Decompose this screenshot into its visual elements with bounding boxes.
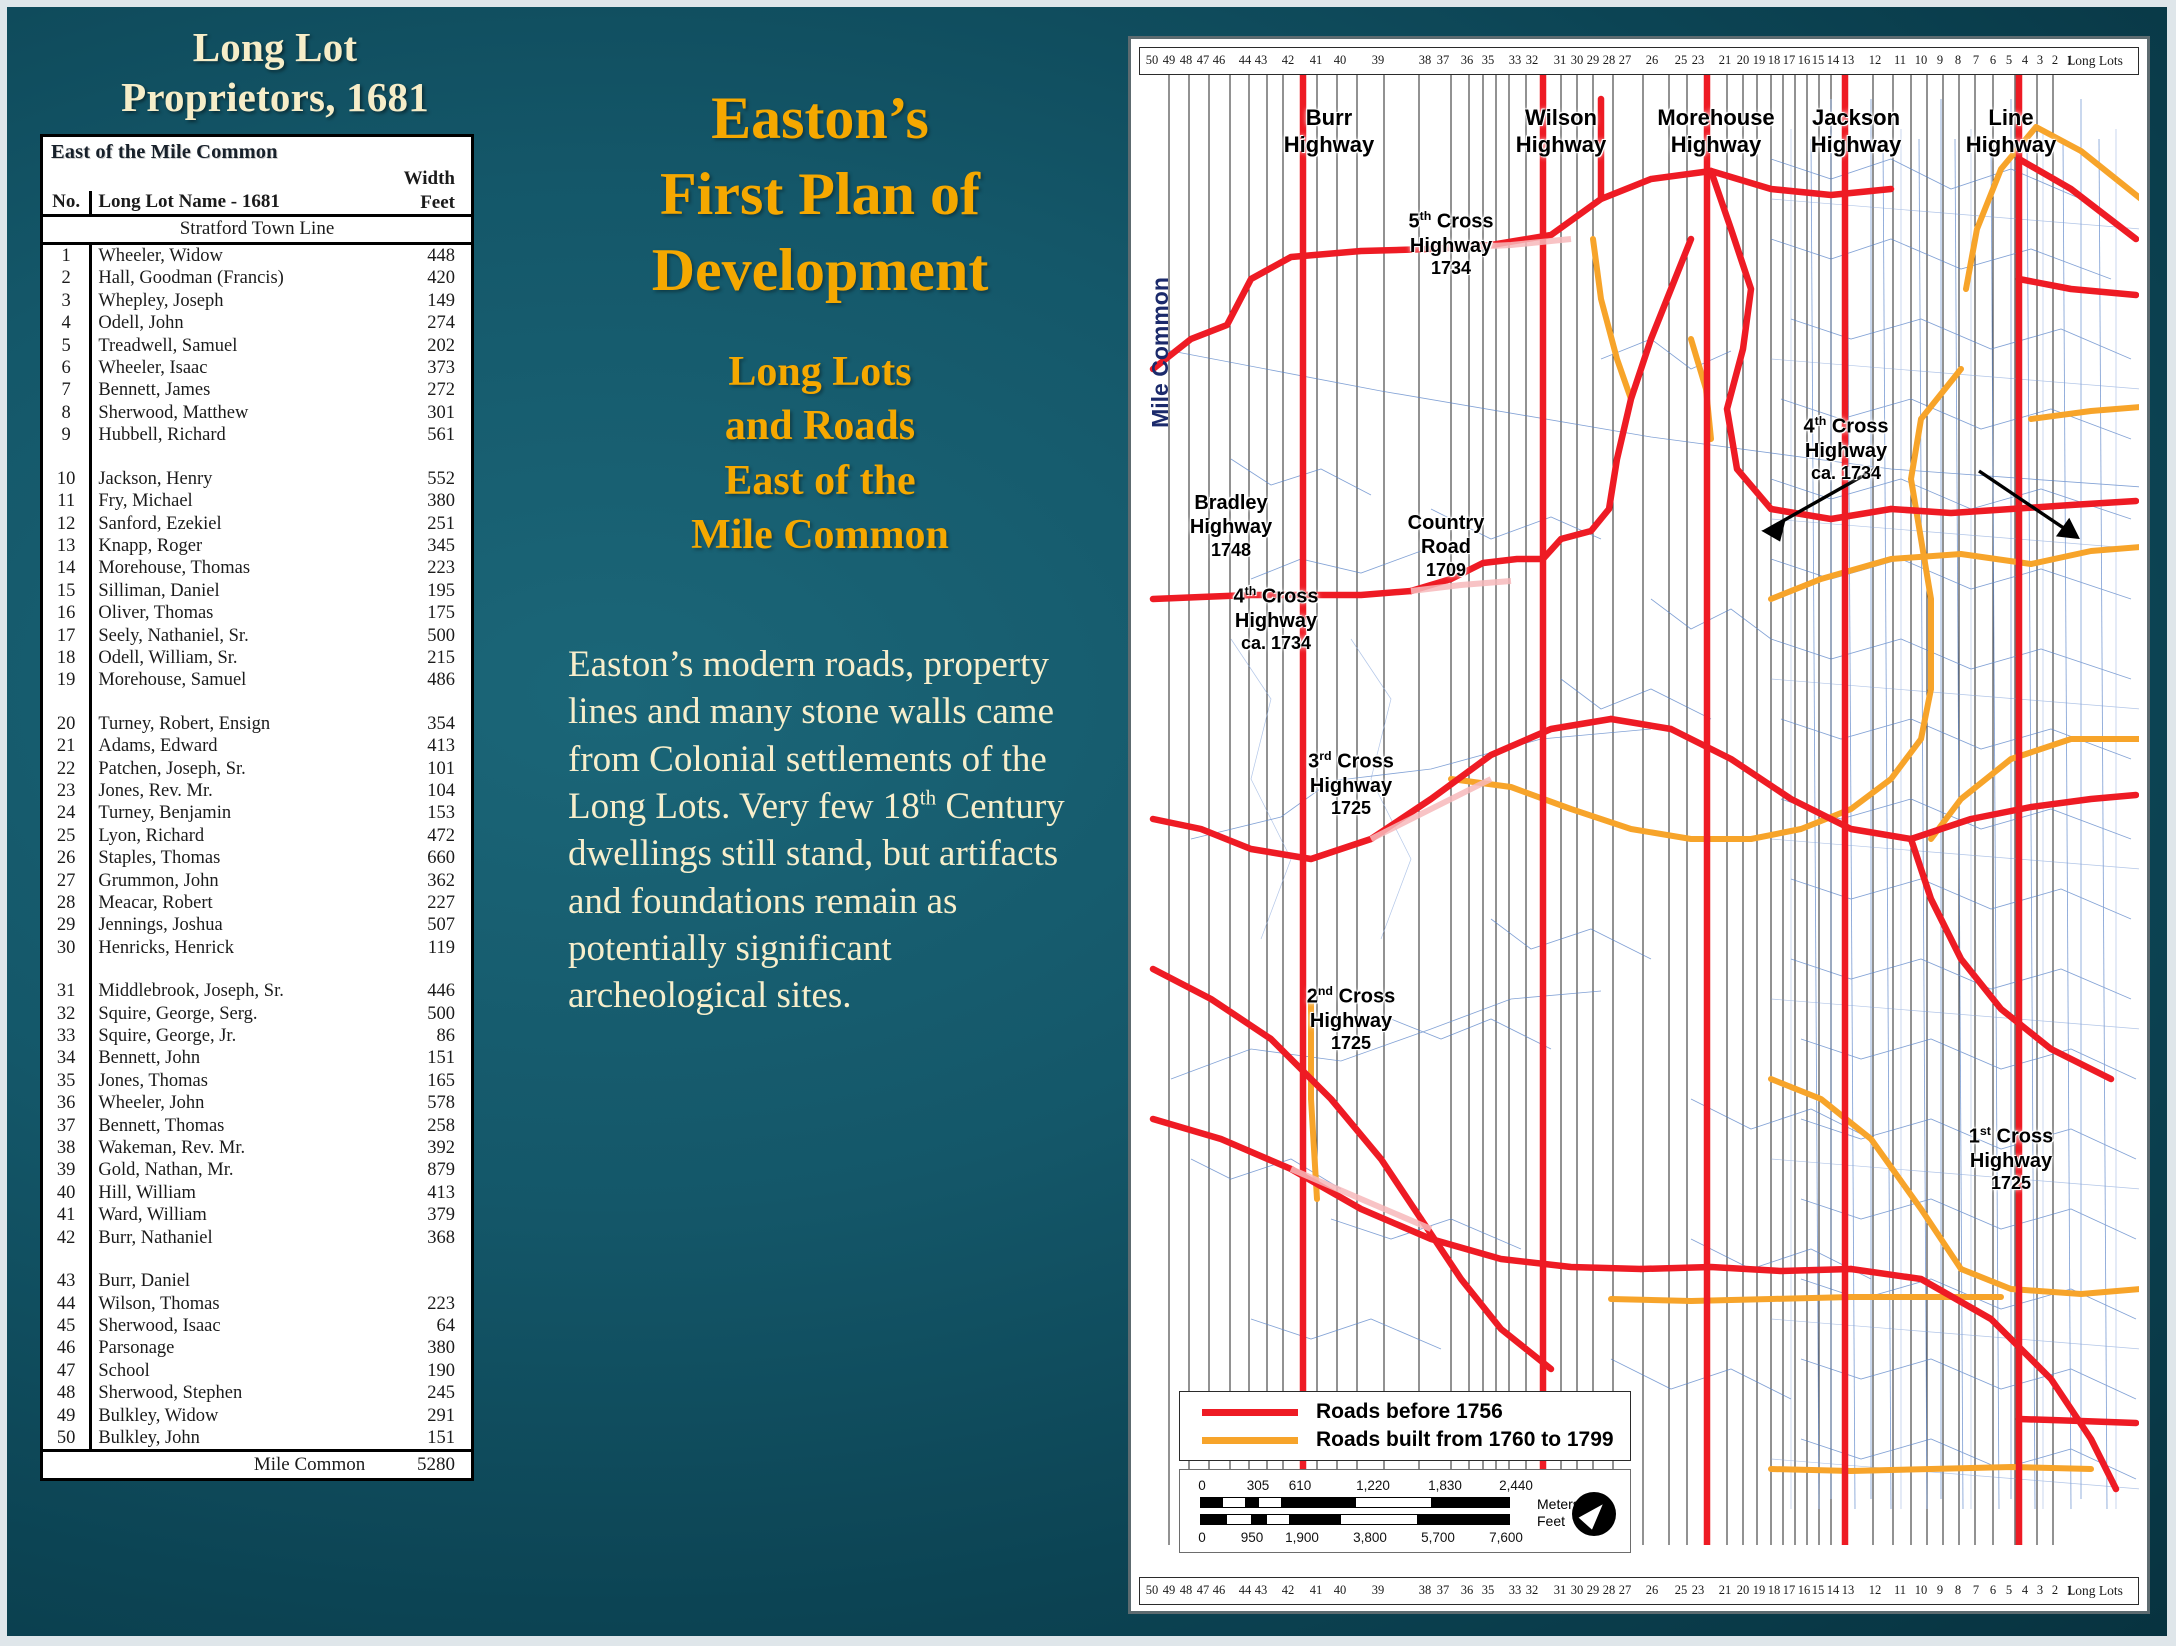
cell-lot-name: Jennings, Joshua — [91, 914, 375, 936]
cell-lot-no: 3 — [43, 290, 91, 312]
map-canvas[interactable]: 5049484746444342414039383736353332313029… — [1131, 39, 2147, 1611]
cell-lot-width: 223 — [375, 1293, 471, 1315]
cell-lot-name: Silliman, Daniel — [91, 580, 375, 602]
cell-lot-no: 17 — [43, 625, 91, 647]
cell-lot-no: 21 — [43, 735, 91, 757]
cell-lot-no: 43 — [43, 1270, 91, 1292]
cell-lot-no: 5 — [43, 335, 91, 357]
cell-lot-name: Burr, Nathaniel — [91, 1227, 375, 1249]
cell-lot-width: 175 — [375, 602, 471, 624]
table-row: 43Burr, Daniel — [43, 1270, 471, 1292]
cell-lot-no: 9 — [43, 424, 91, 446]
lot-number-tick: 30 — [1571, 53, 1584, 68]
cell-lot-width: 223 — [375, 557, 471, 579]
cell-lot-name: Fry, Michael — [91, 490, 375, 512]
page-subtitle-line-2: and Roads — [540, 399, 1100, 454]
cell-lot-name: Staples, Thomas — [91, 847, 375, 869]
cell-lot-width: 379 — [375, 1204, 471, 1226]
table-row-spacer — [43, 1249, 471, 1270]
cell-lot-width: 413 — [375, 735, 471, 757]
lot-number-tick: 26 — [1646, 1583, 1659, 1598]
page-subtitle-line-4: Mile Common — [540, 508, 1100, 563]
table-row: 10Jackson, Henry552 — [43, 468, 471, 490]
cell-lot-name: Treadwell, Samuel — [91, 335, 375, 357]
col-header-width-top: Width — [375, 167, 471, 191]
table-row: 39Gold, Nathan, Mr.879 — [43, 1159, 471, 1181]
cell-lot-name: Turney, Benjamin — [91, 802, 375, 824]
table-row: 44Wilson, Thomas223 — [43, 1293, 471, 1315]
lot-number-tick: 16 — [1798, 53, 1811, 68]
lot-number-tick: 40 — [1334, 53, 1347, 68]
table-row: 41Ward, William379 — [43, 1204, 471, 1226]
lot-number-tick: 23 — [1692, 1583, 1705, 1598]
lot-number-tick: 31 — [1554, 53, 1567, 68]
table-row: 35Jones, Thomas165 — [43, 1070, 471, 1092]
table-row: 8Sherwood, Matthew301 — [43, 402, 471, 424]
lot-number-strip-bottom: 5049484746444342414039383736353332313029… — [1139, 1577, 2139, 1605]
cell-lot-name: Bulkley, Widow — [91, 1405, 375, 1427]
lot-number-tick: 40 — [1334, 1583, 1347, 1598]
table-row: 36Wheeler, John578 — [43, 1092, 471, 1114]
cell-lot-width: 274 — [375, 312, 471, 334]
lot-number-tick: 43 — [1255, 53, 1268, 68]
cell-lot-no: 28 — [43, 892, 91, 914]
lot-number-tick: 36 — [1461, 53, 1474, 68]
lot-number-tick: 27 — [1619, 1583, 1632, 1598]
label-bradley-highway: Bradley Highway 1748 — [1141, 491, 1321, 562]
cell-lot-width: 165 — [375, 1070, 471, 1092]
table-row: 12Sanford, Ezekiel251 — [43, 513, 471, 535]
cell-lot-no: 32 — [43, 1003, 91, 1025]
scale-bar-feet: Feet — [1200, 1514, 1510, 1525]
table-caption: East of the Mile Common — [43, 137, 471, 167]
label-2nd-cross-highway: 2nd Cross Highway 1725 — [1261, 984, 1441, 1055]
table-row-spacer — [43, 959, 471, 980]
map-scale-bar: 0 305 610 1,220 1,830 2,440 Meters Feet — [1179, 1469, 1631, 1553]
table-row: 46Parsonage380 — [43, 1337, 471, 1359]
page-title-line-3: Development — [540, 232, 1100, 308]
cell-lot-width: 245 — [375, 1382, 471, 1404]
cell-lot-no: 22 — [43, 758, 91, 780]
scale-meters-tick-1: 305 — [1247, 1478, 1270, 1493]
lot-number-tick: 21 — [1719, 1583, 1732, 1598]
cell-lot-name: Adams, Edward — [91, 735, 375, 757]
cell-lot-width: 373 — [375, 357, 471, 379]
body-paragraph-ordinal: th — [920, 786, 936, 810]
total-value: 5280 — [375, 1451, 471, 1479]
table-row: 17Seely, Nathaniel, Sr.500 — [43, 625, 471, 647]
lot-number-tick: 50 — [1146, 1583, 1159, 1598]
cell-lot-no: 8 — [43, 402, 91, 424]
table-row: 3Whepley, Joseph149 — [43, 290, 471, 312]
cell-lot-no: 46 — [43, 1337, 91, 1359]
cell-lot-name: Bulkley, John — [91, 1427, 375, 1451]
lot-number-tick: 4 — [2022, 1583, 2028, 1598]
lot-number-tick: 29 — [1587, 53, 1600, 68]
cell-lot-name: Middlebrook, Joseph, Sr. — [91, 980, 375, 1002]
table-row: 22Patchen, Joseph, Sr.101 — [43, 758, 471, 780]
cell-lot-name: Sherwood, Matthew — [91, 402, 375, 424]
lot-number-tick: 38 — [1419, 1583, 1432, 1598]
cell-lot-name: Morehouse, Thomas — [91, 557, 375, 579]
cell-lot-name: Meacar, Robert — [91, 892, 375, 914]
label-wilson-highway: Wilson Highway — [1481, 105, 1641, 159]
legend-item-roads-before-1756: Roads before 1756 — [1180, 1398, 1630, 1426]
table-head-width-row: Width — [43, 167, 471, 191]
cell-lot-name: Squire, George, Jr. — [91, 1025, 375, 1047]
north-arrow-glyph — [1579, 1498, 1610, 1529]
lot-number-tick: 47 — [1197, 53, 1210, 68]
cell-lot-no: 36 — [43, 1092, 91, 1114]
lot-number-tick: 14 — [1827, 1583, 1840, 1598]
table-row: 24Turney, Benjamin153 — [43, 802, 471, 824]
table-row: 6Wheeler, Isaac373 — [43, 357, 471, 379]
scale-feet-tick-2: 1,900 — [1285, 1530, 1319, 1545]
label-line-highway: Line Highway — [1931, 105, 2091, 159]
cell-lot-no: 50 — [43, 1427, 91, 1451]
lot-number-tick: 14 — [1827, 53, 1840, 68]
table-row: 20Turney, Robert, Ensign354 — [43, 713, 471, 735]
cell-lot-name: Sherwood, Isaac — [91, 1315, 375, 1337]
sidebar: Long Lot Proprietors, 1681 East of the M… — [40, 22, 510, 1622]
cell-lot-name: Gold, Nathan, Mr. — [91, 1159, 375, 1181]
lot-number-tick: 43 — [1255, 1583, 1268, 1598]
table-row: 14Morehouse, Thomas223 — [43, 557, 471, 579]
cell-lot-no: 19 — [43, 669, 91, 691]
lot-number-tick: 6 — [1990, 1583, 1996, 1598]
cell-lot-width: 301 — [375, 402, 471, 424]
map-panel[interactable]: 5049484746444342414039383736353332313029… — [1128, 36, 2150, 1614]
sidebar-title-line2: Proprietors, 1681 — [40, 72, 510, 122]
table-row: 45Sherwood, Isaac64 — [43, 1315, 471, 1337]
scale-meters-tick-4: 1,830 — [1428, 1478, 1462, 1493]
lot-number-tick: 18 — [1768, 1583, 1781, 1598]
map-artwork — [1131, 39, 2147, 1611]
page-title: Easton’s First Plan of Development — [540, 80, 1100, 309]
cell-lot-no: 42 — [43, 1227, 91, 1249]
cell-lot-width: 151 — [375, 1047, 471, 1069]
cell-lot-width: 101 — [375, 758, 471, 780]
table-row: 29Jennings, Joshua507 — [43, 914, 471, 936]
scale-meters-tick-0: 0 — [1198, 1478, 1206, 1493]
legend-label-roads-1760-1799: Roads built from 1760 to 1799 — [1316, 1428, 1614, 1452]
lot-number-tick: 39 — [1372, 1583, 1385, 1598]
cell-lot-width: 552 — [375, 468, 471, 490]
label-5th-cross-highway: 5th Cross Highway 1734 — [1361, 209, 1541, 280]
table-row: 38Wakeman, Rev. Mr.392 — [43, 1137, 471, 1159]
table-row: 26Staples, Thomas660 — [43, 847, 471, 869]
cell-lot-no: 40 — [43, 1182, 91, 1204]
scale-feet-tick-4: 5,700 — [1421, 1530, 1455, 1545]
frame-edge-left — [0, 0, 7, 1646]
cell-lot-no: 14 — [43, 557, 91, 579]
cell-lot-no: 1 — [43, 244, 91, 268]
lot-number-tick: 31 — [1554, 1583, 1567, 1598]
strip-label-long-lots: Long Lots — [2067, 53, 2123, 69]
frame-edge-right — [2167, 0, 2176, 1646]
lot-number-tick: 3 — [2037, 53, 2043, 68]
cell-lot-name: Whepley, Joseph — [91, 290, 375, 312]
cell-lot-width: 660 — [375, 847, 471, 869]
cell-lot-width: 195 — [375, 580, 471, 602]
scale-feet-tick-0: 0 — [1198, 1530, 1206, 1545]
table-row: 19Morehouse, Samuel486 — [43, 669, 471, 691]
cell-lot-width: 119 — [375, 937, 471, 959]
lot-number-tick: 20 — [1737, 53, 1750, 68]
lot-number-tick: 13 — [1842, 53, 1855, 68]
cell-lot-name: Seely, Nathaniel, Sr. — [91, 625, 375, 647]
lot-number-tick: 9 — [1937, 1583, 1943, 1598]
cell-lot-name: Parsonage — [91, 1337, 375, 1359]
cell-lot-name: Jones, Rev. Mr. — [91, 780, 375, 802]
lot-number-tick: 29 — [1587, 1583, 1600, 1598]
lot-number-tick: 19 — [1753, 53, 1766, 68]
page-title-line-1: Easton’s — [540, 80, 1100, 156]
cell-lot-no: 4 — [43, 312, 91, 334]
table-row: 9Hubbell, Richard561 — [43, 424, 471, 446]
scale-feet-tick-1: 950 — [1241, 1530, 1264, 1545]
lot-number-tick: 50 — [1146, 53, 1159, 68]
scale-meters-ticks: 0 305 610 1,220 1,830 2,440 — [1180, 1478, 1630, 1495]
lot-number-tick: 49 — [1163, 53, 1176, 68]
scale-feet-tick-3: 3,800 — [1353, 1530, 1387, 1545]
cell-lot-width: 446 — [375, 980, 471, 1002]
cell-lot-name: Odell, William, Sr. — [91, 647, 375, 669]
cell-lot-width: 380 — [375, 490, 471, 512]
table-row: 47School190 — [43, 1360, 471, 1382]
scale-meters-tick-5: 2,440 — [1499, 1478, 1533, 1493]
cell-lot-name: School — [91, 1360, 375, 1382]
lot-number-tick: 3 — [2037, 1583, 2043, 1598]
cell-lot-no: 25 — [43, 825, 91, 847]
table-row: 40Hill, William413 — [43, 1182, 471, 1204]
lot-number-tick: 23 — [1692, 53, 1705, 68]
table-row: 15Silliman, Daniel195 — [43, 580, 471, 602]
cell-lot-width: 64 — [375, 1315, 471, 1337]
table-row: 30Henricks, Henrick119 — [43, 937, 471, 959]
cell-lot-no: 16 — [43, 602, 91, 624]
page-subtitle-line-3: East of the — [540, 454, 1100, 509]
lot-number-tick: 12 — [1869, 53, 1882, 68]
table-row: 25Lyon, Richard472 — [43, 825, 471, 847]
col-header-no: No. — [43, 191, 91, 216]
map-legend: Roads before 1756 Roads built from 1760 … — [1179, 1391, 1631, 1461]
cell-lot-width: 215 — [375, 647, 471, 669]
table-foot: Mile Common 5280 — [43, 1451, 471, 1479]
cell-lot-no: 23 — [43, 780, 91, 802]
lot-number-tick: 15 — [1812, 1583, 1825, 1598]
lot-number-tick: 15 — [1812, 53, 1825, 68]
cell-lot-name: Turney, Robert, Ensign — [91, 713, 375, 735]
cell-lot-width: 202 — [375, 335, 471, 357]
cell-lot-width: 227 — [375, 892, 471, 914]
body-paragraph: Easton’s modern roads, property lines an… — [568, 641, 1100, 1020]
long-lot-table: Width No. Long Lot Name - 1681 Feet Stra… — [43, 167, 471, 1478]
table-row: 4Odell, John274 — [43, 312, 471, 334]
cell-lot-no: 13 — [43, 535, 91, 557]
label-burr-highway: Burr Highway — [1249, 105, 1409, 159]
label-4th-cross-highway-west: 4th Cross Highway ca. 1734 — [1186, 584, 1366, 655]
total-label: Mile Common — [91, 1451, 375, 1479]
lot-number-tick: 37 — [1437, 53, 1450, 68]
cell-lot-width: 151 — [375, 1427, 471, 1451]
cell-lot-name: Wheeler, Widow — [91, 244, 375, 268]
cell-lot-no: 20 — [43, 713, 91, 735]
lot-number-tick: 7 — [1973, 1583, 1979, 1598]
lot-number-tick: 39 — [1372, 53, 1385, 68]
cell-lot-no: 29 — [43, 914, 91, 936]
lot-number-tick: 35 — [1482, 1583, 1495, 1598]
table-row: 5Treadwell, Samuel202 — [43, 335, 471, 357]
frame-edge-bottom — [0, 1636, 2176, 1646]
scale-unit-feet: Feet — [1537, 1513, 1565, 1529]
cell-lot-name: Jones, Thomas — [91, 1070, 375, 1092]
label-jackson-highway: Jackson Highway — [1771, 105, 1941, 159]
cell-lot-no: 15 — [43, 580, 91, 602]
lot-number-tick: 42 — [1282, 1583, 1295, 1598]
lot-number-tick: 5 — [2006, 53, 2012, 68]
cell-lot-width: 291 — [375, 1405, 471, 1427]
lot-number-tick: 13 — [1842, 1583, 1855, 1598]
lot-number-tick: 32 — [1526, 53, 1539, 68]
scale-meters-tick-2: 610 — [1289, 1478, 1312, 1493]
cell-lot-no: 12 — [43, 513, 91, 535]
cell-lot-name: Bennett, John — [91, 1047, 375, 1069]
cell-lot-no: 26 — [43, 847, 91, 869]
cell-lot-name: Sanford, Ezekiel — [91, 513, 375, 535]
table-row: 13Knapp, Roger345 — [43, 535, 471, 557]
cell-lot-width: 392 — [375, 1137, 471, 1159]
lot-number-tick: 36 — [1461, 1583, 1474, 1598]
cell-lot-name: Ward, William — [91, 1204, 375, 1226]
table-row-spacer — [43, 692, 471, 713]
table-head-main-row: No. Long Lot Name - 1681 Feet — [43, 191, 471, 216]
north-arrow-icon — [1572, 1492, 1616, 1536]
lot-number-tick: 44 — [1239, 53, 1252, 68]
lot-number-tick: 33 — [1509, 1583, 1522, 1598]
label-4th-cross-highway-east: 4th Cross Highway ca. 1734 — [1751, 414, 1941, 485]
lot-number-tick: 25 — [1675, 53, 1688, 68]
map-side-label-mile-common: Mile Common — [1147, 277, 1174, 428]
lot-number-tick: 6 — [1990, 53, 1996, 68]
lot-number-tick: 10 — [1915, 53, 1928, 68]
table-row: 49Bulkley, Widow291 — [43, 1405, 471, 1427]
lot-number-tick: 25 — [1675, 1583, 1688, 1598]
lot-number-tick: 17 — [1783, 53, 1796, 68]
cell-lot-width: 578 — [375, 1092, 471, 1114]
cell-lot-width: 258 — [375, 1115, 471, 1137]
legend-swatch-red-icon — [1202, 1409, 1298, 1416]
lot-number-tick: 28 — [1603, 1583, 1616, 1598]
cell-lot-no: 2 — [43, 267, 91, 289]
cell-lot-name: Wheeler, John — [91, 1092, 375, 1114]
lot-number-tick: 49 — [1163, 1583, 1176, 1598]
lot-number-tick: 48 — [1180, 53, 1193, 68]
lot-number-tick: 11 — [1894, 53, 1906, 68]
table-section-stratford-town-line: Stratford Town Line — [43, 216, 471, 244]
lot-number-tick: 35 — [1482, 53, 1495, 68]
lot-number-tick: 18 — [1768, 53, 1781, 68]
cell-lot-no: 24 — [43, 802, 91, 824]
cell-lot-no: 45 — [43, 1315, 91, 1337]
table-row: 7Bennett, James272 — [43, 379, 471, 401]
lot-number-tick: 5 — [2006, 1583, 2012, 1598]
lot-number-tick: 28 — [1603, 53, 1616, 68]
scale-meters-tick-3: 1,220 — [1356, 1478, 1390, 1493]
cell-lot-name: Hall, Goodman (Francis) — [91, 267, 375, 289]
lot-number-tick: 41 — [1310, 1583, 1323, 1598]
cell-lot-name: Morehouse, Samuel — [91, 669, 375, 691]
sidebar-title: Long Lot Proprietors, 1681 — [40, 22, 510, 122]
lot-number-tick: 46 — [1213, 1583, 1226, 1598]
cell-lot-width: 104 — [375, 780, 471, 802]
lot-number-tick: 12 — [1869, 1583, 1882, 1598]
cell-lot-width: 879 — [375, 1159, 471, 1181]
table-row: 11Fry, Michael380 — [43, 490, 471, 512]
col-header-width-bottom: Feet — [375, 191, 471, 216]
cell-lot-name: Wilson, Thomas — [91, 1293, 375, 1315]
cell-lot-name: Knapp, Roger — [91, 535, 375, 557]
lot-number-tick: 37 — [1437, 1583, 1450, 1598]
lot-number-tick: 33 — [1509, 53, 1522, 68]
lot-number-tick: 30 — [1571, 1583, 1584, 1598]
cell-lot-name: Patchen, Joseph, Sr. — [91, 758, 375, 780]
sidebar-title-line1: Long Lot — [193, 24, 358, 70]
table-total-row: Mile Common 5280 — [43, 1451, 471, 1479]
table-row: 32Squire, George, Serg.500 — [43, 1003, 471, 1025]
cell-lot-name: Hill, William — [91, 1182, 375, 1204]
cell-lot-width: 380 — [375, 1337, 471, 1359]
main-text-column: Easton’s First Plan of Development Long … — [540, 80, 1100, 1620]
lot-number-tick: 4 — [2022, 53, 2028, 68]
strip-label-long-lots: Long Lots — [2067, 1583, 2123, 1599]
cell-lot-name: Squire, George, Serg. — [91, 1003, 375, 1025]
page-subtitle-line-1: Long Lots — [540, 345, 1100, 400]
cell-lot-width: 251 — [375, 513, 471, 535]
table-head: Width No. Long Lot Name - 1681 Feet Stra… — [43, 167, 471, 244]
lot-number-tick: 11 — [1894, 1583, 1906, 1598]
cell-lot-name: Henricks, Henrick — [91, 937, 375, 959]
cell-lot-no: 11 — [43, 490, 91, 512]
lot-number-tick: 8 — [1955, 1583, 1961, 1598]
lot-number-tick: 2 — [2052, 53, 2058, 68]
cell-lot-width: 149 — [375, 290, 471, 312]
cell-lot-width: 561 — [375, 424, 471, 446]
lot-number-tick: 20 — [1737, 1583, 1750, 1598]
lot-number-tick: 41 — [1310, 53, 1323, 68]
cell-lot-no: 31 — [43, 980, 91, 1002]
lot-number-tick: 2 — [2052, 1583, 2058, 1598]
lot-number-tick: 10 — [1915, 1583, 1928, 1598]
cell-lot-width: 368 — [375, 1227, 471, 1249]
page-subtitle: Long Lots and Roads East of the Mile Com… — [540, 345, 1100, 563]
cell-lot-name: Oliver, Thomas — [91, 602, 375, 624]
lot-number-tick: 47 — [1197, 1583, 1210, 1598]
cell-lot-name: Grummon, John — [91, 870, 375, 892]
lot-number-tick: 38 — [1419, 53, 1432, 68]
lot-number-tick: 42 — [1282, 53, 1295, 68]
cell-lot-width: 153 — [375, 802, 471, 824]
cell-lot-width: 486 — [375, 669, 471, 691]
cell-lot-name: Hubbell, Richard — [91, 424, 375, 446]
table-row: 50Bulkley, John151 — [43, 1427, 471, 1451]
table-body: 1Wheeler, Widow4482Hall, Goodman (Franci… — [43, 244, 471, 1451]
table-row: 42Burr, Nathaniel368 — [43, 1227, 471, 1249]
cell-lot-no: 10 — [43, 468, 91, 490]
cell-lot-no: 27 — [43, 870, 91, 892]
cell-lot-no: 49 — [43, 1405, 91, 1427]
cell-lot-width: 86 — [375, 1025, 471, 1047]
